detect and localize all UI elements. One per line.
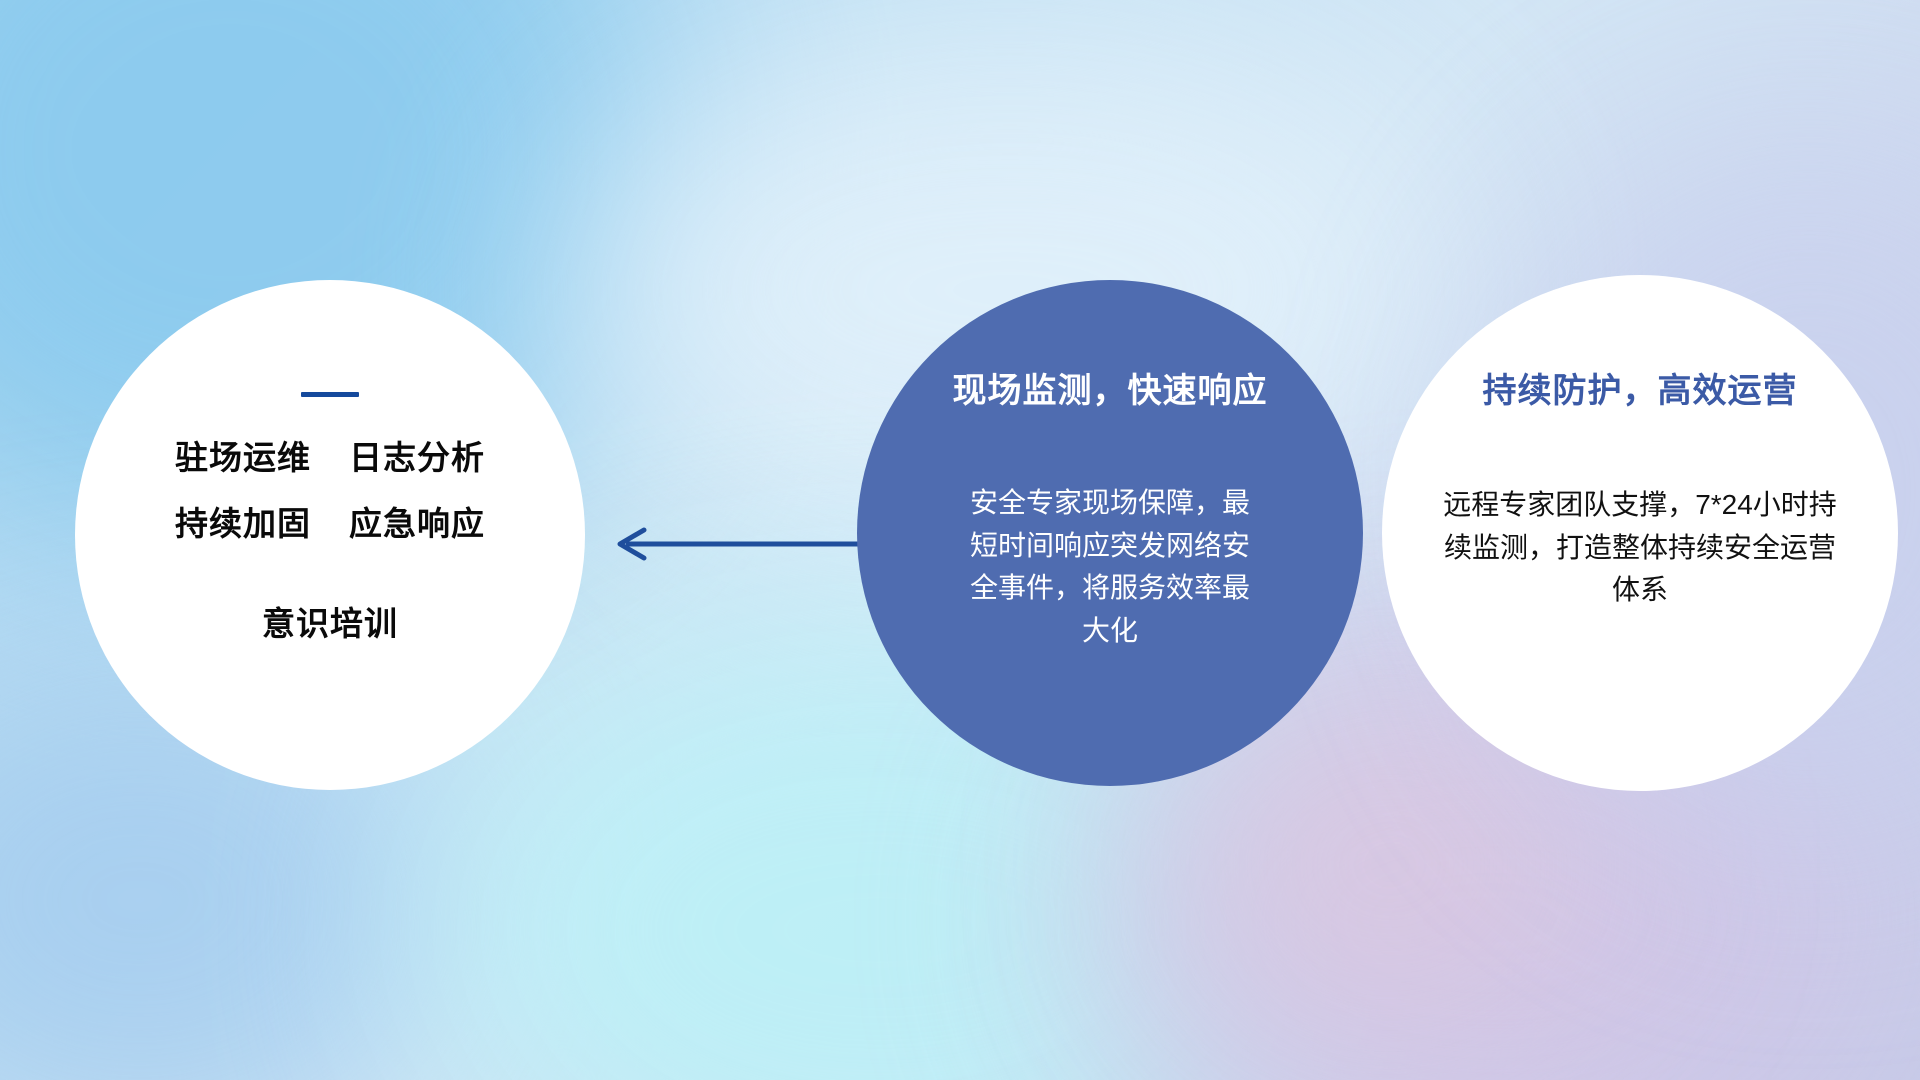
capability-row-1: 驻场运维 日志分析	[175, 441, 485, 474]
right-circle-title: 持续防护，高效运营	[1483, 363, 1798, 412]
right-circle-content: 持续防护，高效运营 远程专家团队支撑，7*24小时持续监测，打造整体持续安全运营…	[1382, 275, 1898, 791]
capability-tag: 驻场运维	[175, 441, 311, 474]
right-circle-body: 远程专家团队支撑，7*24小时持续监测，打造整体持续安全运营体系	[1440, 484, 1840, 612]
capability-tag-training: 意识培训	[262, 597, 398, 645]
left-circle-content: 驻场运维 日志分析 持续加固 应急响应 意识培训	[75, 280, 585, 790]
accent-dash-divider	[301, 392, 359, 397]
capability-tag: 持续加固	[175, 507, 311, 540]
flow-arrow-left	[600, 518, 900, 570]
capability-tag: 应急响应	[349, 507, 485, 540]
middle-circle-shape	[857, 280, 1363, 786]
capability-row-2: 持续加固 应急响应	[175, 507, 485, 540]
flow-arrow-left-icon	[600, 518, 900, 570]
capability-tag: 日志分析	[349, 441, 485, 474]
slide-canvas: 驻场运维 日志分析 持续加固 应急响应 意识培训 现场监测，快速响应 安全专家现…	[0, 0, 1920, 1080]
